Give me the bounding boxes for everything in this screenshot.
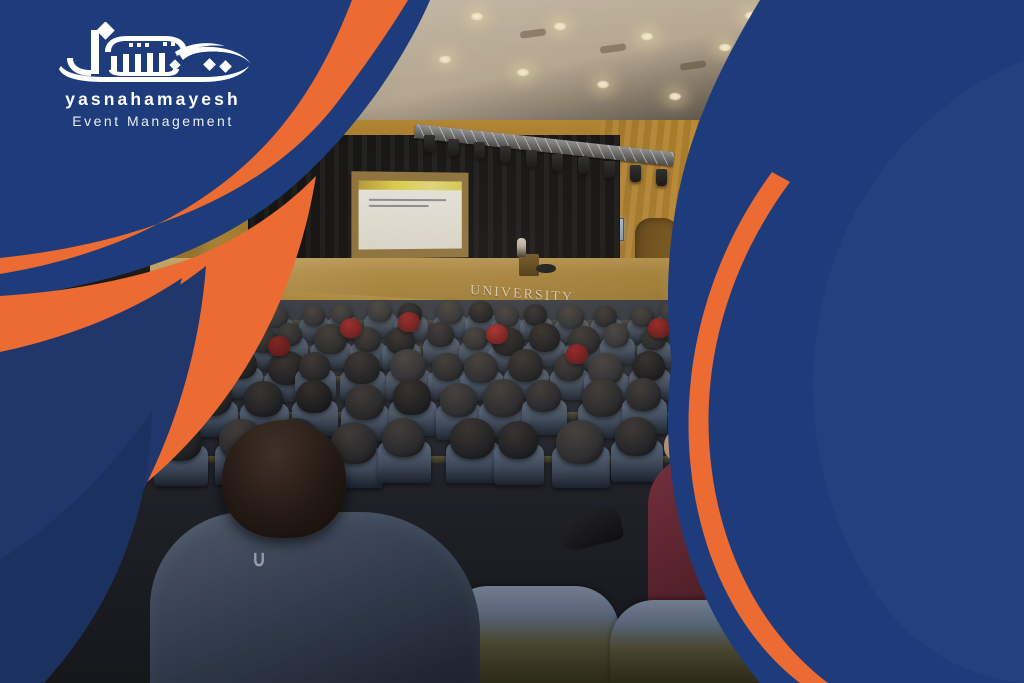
brand-name: yasnahamayesh: [38, 90, 268, 109]
poster-canvas: UNIVERSITY ∪: [0, 0, 1024, 683]
brand-tagline: Event Management: [38, 113, 268, 129]
persian-calligraphy-logo-icon: [53, 22, 253, 88]
brand-logo: yasnahamayesh Event Management: [38, 22, 268, 129]
